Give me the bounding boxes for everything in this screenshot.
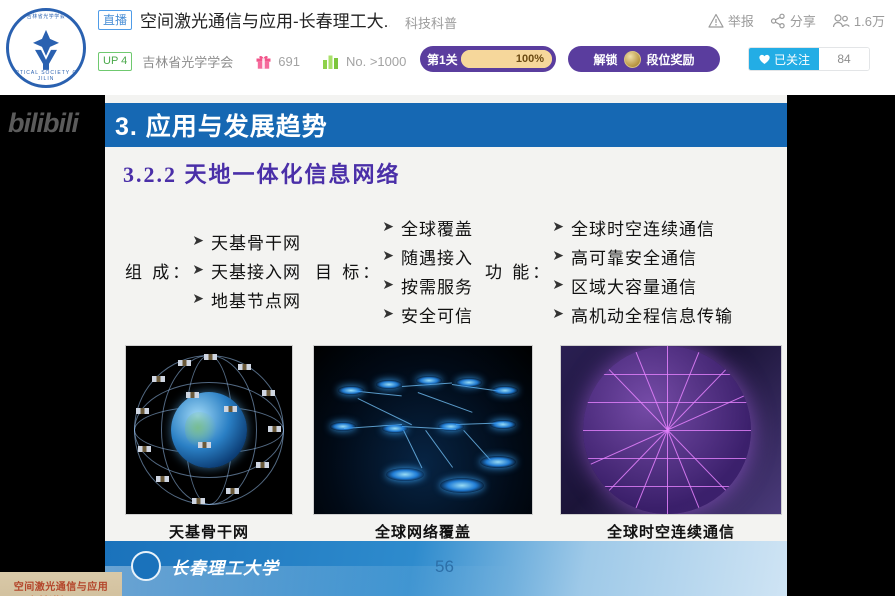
network-node xyxy=(376,380,402,389)
list-item: ➤ 高可靠安全通信 xyxy=(552,244,733,269)
bilibili-live-page: 吉林省光学学会 OPTICAL SOCIETY OF JILIN 直播 空间激光… xyxy=(0,0,895,596)
satellite-icon xyxy=(262,390,275,396)
unlock-reward-button[interactable]: 解锁 段位奖励 xyxy=(568,46,720,72)
list-item-label: 高可靠安全通信 xyxy=(571,244,697,269)
chevron-bullet-icon: ➤ xyxy=(192,262,205,279)
rank-text: No. >1000 xyxy=(346,54,406,69)
avatar[interactable]: 吉林省光学学会 OPTICAL SOCIETY OF JILIN xyxy=(6,8,86,88)
network-node xyxy=(416,376,442,385)
functions-bullets: ➤ 全球时空连续通信 ➤ 高可靠安全通信 ➤ 区域大容量通信 ➤ xyxy=(552,215,733,327)
network-node xyxy=(386,468,424,481)
list-item: ➤ 按需服务 xyxy=(382,273,473,298)
list-item-label: 天基接入网 xyxy=(211,258,301,283)
satellite-icon xyxy=(186,392,199,398)
university-name: 长春理工大学 xyxy=(171,554,279,579)
list-item-label: 高机动全程信息传输 xyxy=(571,302,733,327)
avatar-ring-top-text: 吉林省光学学会 xyxy=(9,13,83,20)
unlock-label: 解锁 xyxy=(593,51,617,68)
list-item-label: 随遇接入 xyxy=(401,244,473,269)
optical-society-emblem-icon xyxy=(23,26,69,72)
satellite-icon xyxy=(198,442,211,448)
list-item: ➤ 高机动全程信息传输 xyxy=(552,302,733,327)
list-item-label: 天基骨干网 xyxy=(211,229,301,254)
stream-meta-row: UP 4 吉林省光学学会 691 No. >1000 xyxy=(98,46,406,76)
satellite-icon xyxy=(226,488,239,494)
satellite-icon xyxy=(178,360,191,366)
list-item-label: 区域大容量通信 xyxy=(571,273,697,298)
satellite-icon xyxy=(238,364,251,370)
satellite-icon xyxy=(156,476,169,482)
network-node xyxy=(438,422,464,431)
chevron-bullet-icon: ➤ xyxy=(382,277,395,294)
header-actions: 举报 分享 1.6万 xyxy=(708,11,885,30)
globe-parallel xyxy=(583,486,751,487)
list-item: ➤ 全球时空连续通信 xyxy=(552,215,733,240)
list-item: ➤ 区域大容量通信 xyxy=(552,273,733,298)
channel-avatar-logo: 吉林省光学学会 OPTICAL SOCIETY OF JILIN xyxy=(6,8,86,88)
up-level-badge: UP 4 xyxy=(98,52,132,71)
chevron-bullet-icon: ➤ xyxy=(192,291,205,308)
globe-parallel xyxy=(583,458,751,459)
satellite-icon xyxy=(152,376,165,382)
stream-header: 吉林省光学学会 OPTICAL SOCIETY OF JILIN 直播 空间激光… xyxy=(0,0,895,95)
list-item: ➤ 全球覆盖 xyxy=(382,215,473,240)
heart-icon xyxy=(758,53,771,65)
goals-label: 目 标： xyxy=(315,258,382,283)
follow-group: 已关注 84 xyxy=(748,47,870,71)
column-composition: 组 成： ➤ 天基骨干网 ➤ 天基接入网 ➤ 地基节点网 xyxy=(125,229,301,312)
globe-parallel xyxy=(583,402,751,403)
list-item-label: 全球覆盖 xyxy=(401,215,473,240)
figure-spacetime-communication xyxy=(560,345,782,515)
bilibili-watermark: bilibili xyxy=(8,103,104,143)
report-label: 举报 xyxy=(728,11,754,30)
column-functions: 功 能： ➤ 全球时空连续通信 ➤ 高可靠安全通信 ➤ 区域大容量通信 xyxy=(485,215,733,327)
list-item: ➤ 天基接入网 xyxy=(192,258,301,283)
chevron-bullet-icon: ➤ xyxy=(382,306,395,323)
list-item: ➤ 天基骨干网 xyxy=(192,229,301,254)
viewers-icon xyxy=(832,13,850,29)
pip-poster-title: 空间激光通信与应用 xyxy=(4,578,118,593)
presenter-webcam-pip[interactable]: 空间激光通信与应用 高首讲坛 2020年10月14日 14:00 xyxy=(0,572,122,596)
satellite-icon xyxy=(224,406,237,412)
satellite-icon xyxy=(256,462,269,468)
network-node xyxy=(440,478,484,493)
slide-subsection-title: 3.2.2 天地一体化信息网络 xyxy=(123,157,401,189)
gift-count: 691 xyxy=(278,54,300,69)
globe-parallel xyxy=(583,374,751,375)
chevron-bullet-icon: ➤ xyxy=(552,277,565,294)
slide-footer: 长春理工大学 56 xyxy=(105,541,787,596)
category-link[interactable]: 科技科普 xyxy=(405,13,457,32)
medal-icon xyxy=(624,51,641,68)
reward-label: 段位奖励 xyxy=(647,51,695,68)
slide-title-bar: 3. 应用与发展趋势 xyxy=(105,103,787,147)
chevron-bullet-icon: ➤ xyxy=(552,248,565,265)
gift-stat[interactable]: 691 xyxy=(255,53,300,70)
presentation-slide: 3. 应用与发展趋势 3.2.2 天地一体化信息网络 组 成： ➤ 天基骨干网 … xyxy=(105,95,787,596)
follow-count[interactable]: 84 xyxy=(819,48,869,70)
figure-2-caption: 全球网络覆盖 xyxy=(313,521,533,542)
figure-satellite-constellation xyxy=(125,345,293,515)
figure-network-coverage xyxy=(313,345,533,515)
network-node xyxy=(490,420,516,429)
level-progress-bar: 100% xyxy=(461,50,552,68)
avatar-ring-bottom-text: OPTICAL SOCIETY OF JILIN xyxy=(9,70,83,82)
report-button[interactable]: 举报 xyxy=(708,11,754,30)
network-node xyxy=(338,386,364,395)
satellite-icon xyxy=(136,408,149,414)
follow-button[interactable]: 已关注 xyxy=(749,48,819,70)
share-button[interactable]: 分享 xyxy=(770,11,816,30)
goals-bullets: ➤ 全球覆盖 ➤ 随遇接入 ➤ 按需服务 ➤ 安 xyxy=(382,215,473,327)
slide-section-title: 3. 应用与发展趋势 xyxy=(105,107,328,143)
list-item-label: 按需服务 xyxy=(401,273,473,298)
list-item-label: 地基节点网 xyxy=(211,287,301,312)
list-item: ➤ 随遇接入 xyxy=(382,244,473,269)
chevron-bullet-icon: ➤ xyxy=(552,219,565,236)
follow-label: 已关注 xyxy=(774,51,810,68)
satellite-icon xyxy=(192,498,205,504)
rank-stat[interactable]: No. >1000 xyxy=(322,53,406,70)
level-progress-pill[interactable]: 第1关 100% xyxy=(420,46,556,72)
gift-icon xyxy=(255,53,272,70)
earth-globe-icon xyxy=(171,392,247,468)
list-item: ➤ 安全可信 xyxy=(382,302,473,327)
slide-page-number: 56 xyxy=(435,557,454,577)
page-title: 空间激光通信与应用-长春理工大... xyxy=(140,7,390,32)
level-label: 第1关 xyxy=(424,51,461,68)
functions-label: 功 能： xyxy=(485,258,552,283)
live-badge: 直播 xyxy=(98,10,132,30)
viewer-count: 1.6万 xyxy=(832,11,885,30)
list-item-label: 安全可信 xyxy=(401,302,473,327)
chevron-bullet-icon: ➤ xyxy=(192,233,205,250)
channel-name[interactable]: 吉林省光学学会 xyxy=(142,52,233,71)
column-goals: 目 标： ➤ 全球覆盖 ➤ 随遇接入 ➤ 按需服务 xyxy=(315,215,473,327)
composition-label: 组 成： xyxy=(125,258,192,283)
warning-icon xyxy=(708,13,724,29)
slide-bullet-columns: 组 成： ➤ 天基骨干网 ➤ 天基接入网 ➤ 地基节点网 xyxy=(105,203,787,338)
figure-1-caption: 天基骨干网 xyxy=(125,521,293,542)
share-label: 分享 xyxy=(790,11,816,30)
rank-bars-icon xyxy=(322,53,340,70)
globe-parallel xyxy=(583,430,751,431)
network-node xyxy=(330,422,356,431)
network-node xyxy=(382,424,408,433)
level-progress-percent: 100% xyxy=(516,50,544,68)
satellite-icon xyxy=(268,426,281,432)
figure-3-caption: 全球时空连续通信 xyxy=(560,521,782,542)
purple-globe-icon xyxy=(583,346,751,514)
share-icon xyxy=(770,13,786,29)
viewer-count-value: 1.6万 xyxy=(854,11,885,30)
video-player-area[interactable]: bilibili 直播 3. 应用与发展趋势 3.2.2 天地一体化信息网络 组… xyxy=(0,95,895,596)
composition-bullets: ➤ 天基骨干网 ➤ 天基接入网 ➤ 地基节点网 xyxy=(192,229,301,312)
chevron-bullet-icon: ➤ xyxy=(552,306,565,323)
network-node xyxy=(456,378,482,387)
network-node xyxy=(480,456,516,468)
chevron-bullet-icon: ➤ xyxy=(382,248,395,265)
network-node xyxy=(492,386,518,395)
university-seal-icon xyxy=(131,551,161,581)
satellite-icon xyxy=(138,446,151,452)
list-item: ➤ 地基节点网 xyxy=(192,287,301,312)
list-item-label: 全球时空连续通信 xyxy=(571,215,715,240)
satellite-icon xyxy=(204,354,217,360)
chevron-bullet-icon: ➤ xyxy=(382,219,395,236)
slide-figures: 天基骨干网 xyxy=(105,345,787,525)
